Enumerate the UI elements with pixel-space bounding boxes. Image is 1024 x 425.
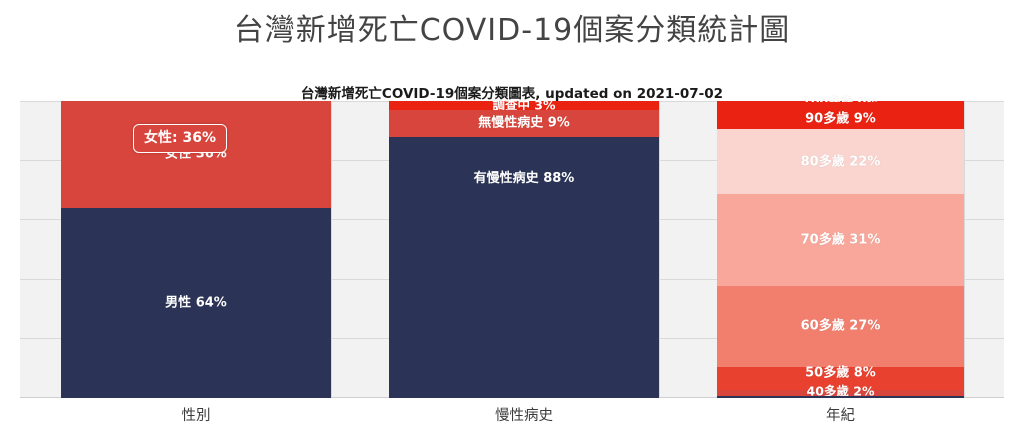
segment-age-80s[interactable]: 80多歲 22% [717,129,964,194]
vertical-gridline-6 [964,101,965,398]
chart-subtitle: 台灣新增死亡COVID-19個案分類圖表, updated on 2021-07… [0,86,1024,102]
page-title: 台灣新增死亡COVID-19個案分類統計圖 [0,14,1024,48]
bar-column-age[interactable]: 100多歲 0% 90多歲 9% 80多歲 22% 70多歲 31% 60多歲 … [717,101,964,398]
segment-label: 80多歲 22% [717,154,964,169]
segment-female[interactable]: 女性 36% [61,101,331,208]
bar-column-chronic[interactable]: 調查中 3% 無慢性病史 9% 有慢性病史 88% [389,101,659,398]
segment-male[interactable]: 男性 64% [61,208,331,398]
segment-label: 有慢性病史 88% [389,171,659,186]
segment-label: 男性 64% [61,295,331,310]
segment-age-90s[interactable]: 90多歲 9% [717,102,964,129]
segment-under-investigation[interactable]: 調查中 3% [389,101,659,110]
chart-root: 台灣新增死亡COVID-19個案分類統計圖 女性 36% 男性 64% [0,0,1024,425]
segment-label: 60多歲 27% [717,319,964,334]
segment-has-chronic-history[interactable]: 有慢性病史 88% [389,137,659,398]
segment-age-30s[interactable] [717,396,964,398]
segment-label: 70多歲 31% [717,233,964,248]
segment-age-60s[interactable]: 60多歲 27% [717,286,964,366]
vertical-gridline-4 [659,101,660,398]
segment-label: 50多歲 8% [717,366,964,381]
segment-label: 無慢性病史 9% [389,116,659,131]
x-axis-label-age: 年紀 [717,404,964,425]
vertical-gridline-2 [331,101,332,398]
segment-label: 90多歲 9% [717,111,964,126]
x-axis-label-gender: 性別 [61,404,331,425]
segment-age-70s[interactable]: 70多歲 31% [717,194,964,286]
x-axis-label-chronic: 慢性病史 [389,404,659,425]
tooltip: 女性: 36% [133,124,227,153]
stack-age: 100多歲 0% 90多歲 9% 80多歲 22% 70多歲 31% 60多歲 … [717,101,964,398]
segment-no-chronic-history[interactable]: 無慢性病史 9% [389,110,659,137]
stack-chronic: 調查中 3% 無慢性病史 9% 有慢性病史 88% [389,101,659,398]
